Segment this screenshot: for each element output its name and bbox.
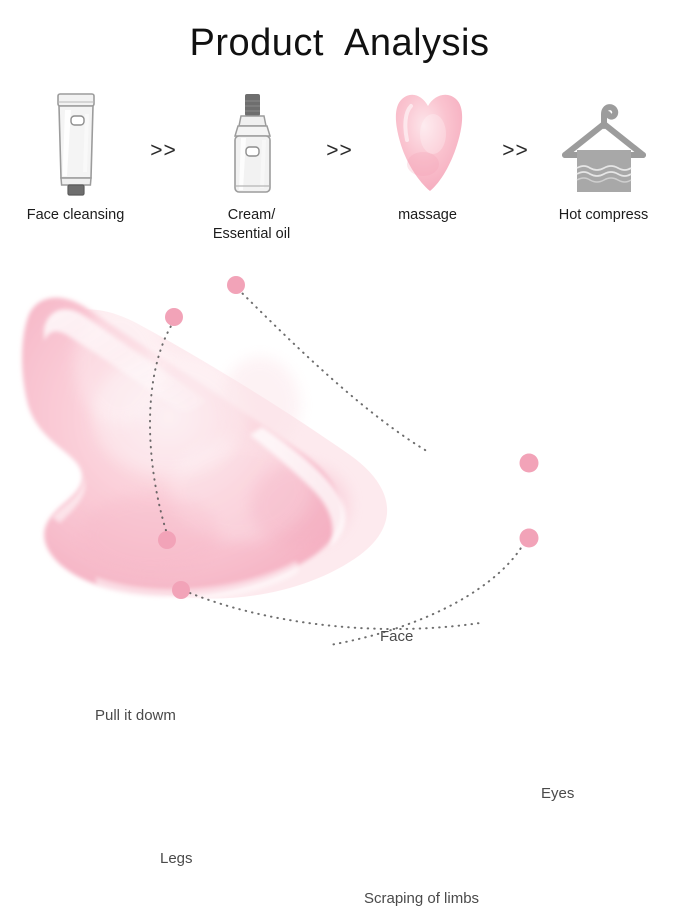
callout-label-face: Face [380, 628, 413, 645]
process-step-label: massage [398, 206, 457, 225]
callout-label-eyes: Eyes [541, 785, 574, 802]
callout-label-legs: Legs [160, 850, 193, 867]
process-steps: Face cleansing >> [0, 88, 679, 238]
process-step-label: Cream/ Essential oil [213, 206, 290, 245]
cleanser-tube-icon [47, 88, 105, 196]
process-step-cream-essential-oil: Cream/ Essential oil [186, 88, 318, 245]
gua-sha-stone-shape [22, 298, 387, 601]
gua-sha-callout-diagram: Face Eyes Scraping of limbs Legs Pull it… [0, 255, 679, 679]
dot-left-notch [158, 531, 176, 549]
dot-top [227, 276, 245, 294]
process-step-hot-compress: Hot compress [538, 88, 670, 225]
product-analysis-infographic: Product Analysis [0, 0, 679, 679]
process-step-face-cleansing: Face cleansing [10, 88, 142, 225]
process-arrow-1: >> [142, 140, 186, 161]
dot-right-upper [520, 454, 539, 473]
dot-right-lower [520, 529, 539, 548]
process-step-label: Hot compress [559, 206, 648, 225]
towel-hanger-icon [555, 88, 653, 196]
process-step-label: Face cleansing [27, 206, 125, 225]
callout-label-scraping-of-limbs: Scraping of limbs [364, 890, 479, 907]
dot-bottom-left [172, 581, 190, 599]
page-title: Product Analysis [0, 22, 679, 65]
gua-sha-stone-icon [389, 88, 467, 196]
process-arrow-3: >> [494, 140, 538, 161]
process-arrow-2: >> [318, 140, 362, 161]
connector-scraping-of-limbs [190, 593, 480, 629]
pump-bottle-icon [222, 88, 282, 196]
callout-label-pull-it-down: Pull it dowm [95, 707, 176, 724]
connector-eyes [330, 543, 524, 645]
process-step-massage: massage [362, 88, 494, 225]
dot-top-left [165, 308, 183, 326]
